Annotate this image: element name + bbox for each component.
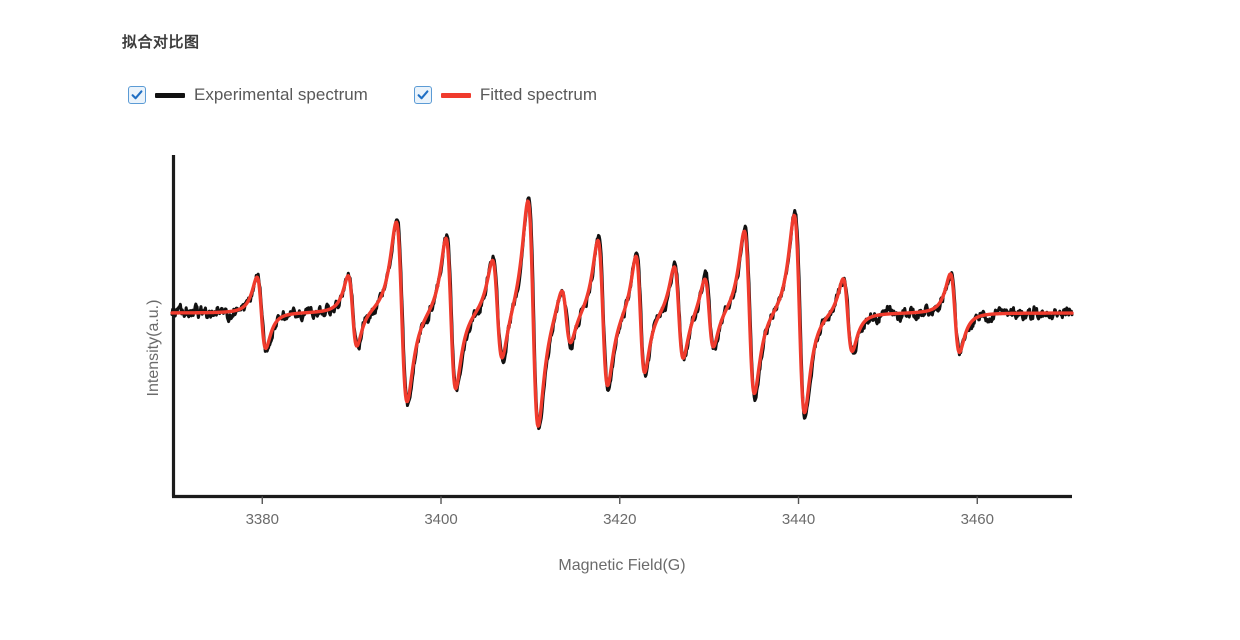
x-axis-ticks: 33803400342034403460 <box>246 497 994 529</box>
x-axis-title: Magnetic Field(G) <box>558 557 685 574</box>
x-tick-label: 3380 <box>246 511 279 528</box>
x-tick-label: 3420 <box>603 511 636 528</box>
plot-area: 33803400342034403460 Magnetic Field(G) I… <box>0 0 1240 640</box>
x-tick-label: 3440 <box>782 511 815 528</box>
series-fitted-spectrum <box>172 201 1072 426</box>
series-group <box>172 198 1072 429</box>
x-tick-label: 3460 <box>961 511 994 528</box>
x-tick-label: 3400 <box>424 511 457 528</box>
chart-root: 拟合对比图 Experimental spectrum Fitted spect… <box>0 0 1240 640</box>
y-axis-title: Intensity(a.u.) <box>145 300 162 397</box>
axes-group <box>172 155 1072 497</box>
